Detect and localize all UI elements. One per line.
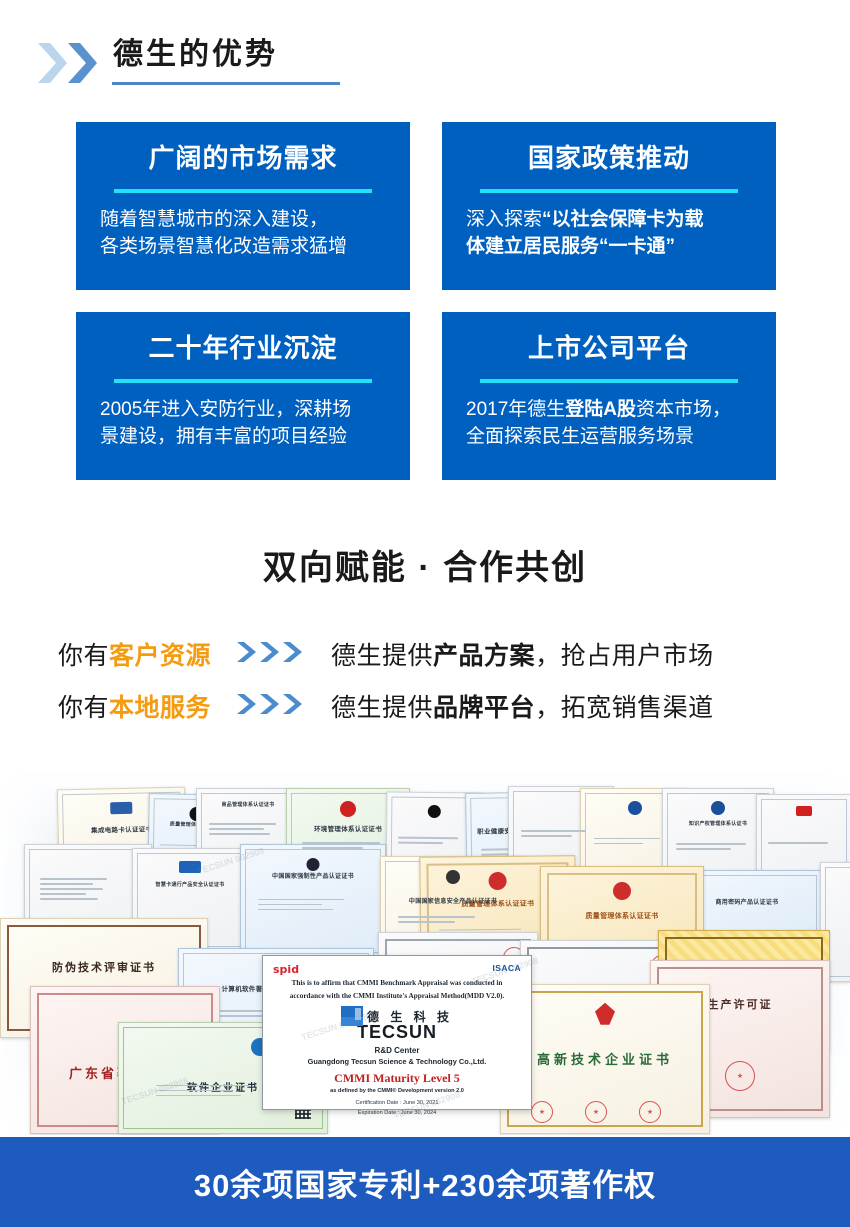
value-row-right-suffix: ，抢占用户市场 [535,642,714,670]
certificate-label: 环境管理体系认证证书 [291,823,405,833]
title-underline [112,82,340,85]
value-row-right-bold: 品牌平台 [433,694,535,722]
card-body-line: 景建设，拥有丰富的项目经验 [100,424,392,451]
card-body-line: 体建立居民服务“一卡通” [466,234,758,261]
card-body-line: 2005年进入安防行业，深耕场 [100,397,392,424]
value-row-left-highlight: 本地服务 [109,694,211,722]
patents-banner: 30余项国家专利+230余项著作权 [0,1137,850,1227]
advantage-card-grid: 广阔的市场需求 随着智慧城市的深入建设， 各类场景智慧化改造需求猛增 国家政策推… [76,122,776,480]
card-body-text: 2017年德生 [466,399,565,420]
cmmi-company-name: Guangdong Tecsun Science & Technology Co… [273,1057,521,1066]
card-body-line: 全面探索民生运营服务场景 [466,424,758,451]
double-chevron-icon [36,42,102,84]
card-body-text: 资本市场， [636,399,731,420]
card-title: 广阔的市场需求 [148,144,337,173]
card-body-emphasis: 体建立居民服务“一卡通” [466,236,675,257]
cmmi-expiration-date: Expiration Date : June 30, 2024 [273,1109,521,1117]
value-row-left-prefix: 你有 [58,694,109,722]
card-title: 二十年行业沉淀 [148,334,337,363]
card-title: 上市公司平台 [528,334,690,363]
certificate-label: 中国国家强制性产品认证证书 [245,871,381,880]
certificate-label: 防伪技术评审证书 [5,959,203,975]
certificate-label: 知识产权管理体系认证书 [667,820,769,827]
certificate-label: 商用密码产品认证证书 [677,897,817,906]
card-body-emphasis: 登陆A股 [565,399,636,420]
advantage-card-national-policy: 国家政策推动 深入探索“以社会保障卡为载 体建立居民服务“一卡通” [442,122,776,290]
card-body-emphasis: “以社会保障卡为载 [542,209,704,230]
isaca-logo: ISACA [493,963,521,973]
advantage-card-listed-company: 上市公司平台 2017年德生登陆A股资本市场， 全面探索民生运营服务场景 [442,312,776,480]
certificate-collage: 集成电路卡认证证书 质量管理体系认证证书 商品管理体系认证证书 环境管理体系认证… [0,770,850,1135]
cmmi-rd-center: R&D Center [273,1046,521,1055]
page-title: 德生的优势 [113,40,278,70]
card-body-line: 2017年德生登陆A股资本市场， [466,397,758,424]
value-row-left: 你有本地服务 [58,688,211,724]
chevron-right-light-icon [36,42,68,84]
value-row-right-suffix: ，拓宽销售渠道 [535,694,714,722]
value-row-customer-resource: 你有客户资源 德生提供产品方案，抢占用户市场 [0,628,850,680]
triple-chevron-icon [211,641,331,667]
card-body-line: 随着智慧城市的深入建设， [100,207,392,234]
card-title: 国家政策推动 [528,144,690,173]
cmmi-defined-by: as defined by the CMMI® Development vers… [273,1088,521,1094]
certificate-label: 高新技术企业证书 [505,1049,705,1068]
certificate-label: 质量管理体系认证证书 [545,911,699,921]
card-body: 随着智慧城市的深入建设， 各类场景智慧化改造需求猛增 [94,207,392,261]
card-divider [114,189,372,193]
card-body-line: 各类场景智慧化改造需求猛增 [100,234,392,261]
patents-banner-text: 30余项国家专利+230余项著作权 [194,1160,656,1205]
tecsun-logo-icon [341,1006,363,1026]
card-body: 2017年德生登陆A股资本市场， 全面探索民生运营服务场景 [460,397,758,451]
value-row-right-prefix: 德生提供 [331,694,433,722]
value-proposition-list: 你有客户资源 德生提供产品方案，抢占用户市场 你有本地服务 德生提供品牌平台，拓… [0,628,850,732]
cmmi-affirmation-line-1: This is to affirm that CMMI Benchmark Ap… [273,979,521,989]
value-row-right-bold: 产品方案 [433,642,535,670]
cmmi-maturity-level: CMMI Maturity Level 5 [273,1071,521,1086]
spid-logo: spid [273,963,299,976]
cmmi-certification-date: Certification Date : June 30, 2021 [273,1099,521,1107]
card-divider [480,189,738,193]
card-body-text: 深入探索 [466,209,542,230]
triple-chevron-icon [211,693,331,719]
cmmi-certificate: spid ISACA This is to affirm that CMMI B… [262,955,532,1110]
section-header: 德生的优势 [0,0,850,110]
value-row-left: 你有客户资源 [58,636,211,672]
card-body: 2005年进入安防行业，深耕场 景建设，拥有丰富的项目经验 [94,397,392,451]
value-row-left-highlight: 客户资源 [109,642,211,670]
value-row-right: 德生提供品牌平台，拓宽销售渠道 [331,688,714,724]
cmmi-header: spid ISACA [273,963,521,976]
chevron-right-dark-icon [66,42,98,84]
certificate-label: 智慧卡通行产品安全认证证书 [137,881,243,888]
advantage-card-industry-experience: 二十年行业沉淀 2005年进入安防行业，深耕场 景建设，拥有丰富的项目经验 [76,312,410,480]
card-body: 深入探索“以社会保障卡为载 体建立居民服务“一卡通” [460,207,758,261]
value-row-local-service: 你有本地服务 德生提供品牌平台，拓宽销售渠道 [0,680,850,732]
value-row-right: 德生提供产品方案，抢占用户市场 [331,636,714,672]
card-divider [114,379,372,383]
value-row-left-prefix: 你有 [58,642,109,670]
advantage-card-market-demand: 广阔的市场需求 随着智慧城市的深入建设， 各类场景智慧化改造需求猛增 [76,122,410,290]
value-row-right-prefix: 德生提供 [331,642,433,670]
card-body-line: 深入探索“以社会保障卡为载 [466,207,758,234]
cooperation-heading: 双向赋能 · 合作共创 [0,540,850,589]
cmmi-affirmation-line-2: accordance with the CMMI Institute's App… [273,992,521,1002]
tecsun-brand-en: TECSUN [273,1022,521,1043]
card-divider [480,379,738,383]
certificate-thumb: 中国国家强制性产品认证证书 [240,844,386,958]
certificate-label: 中国国家信息安全产品认证证书 [385,896,521,905]
certificate-label: 商品管理体系认证证书 [201,801,295,808]
